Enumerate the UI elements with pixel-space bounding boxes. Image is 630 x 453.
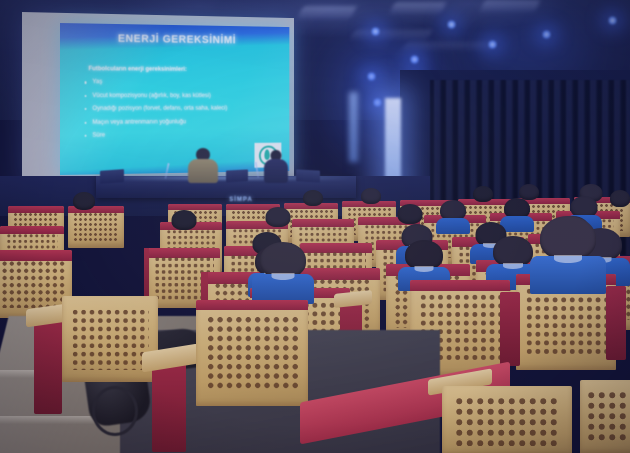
ceiling-panel	[349, 30, 433, 40]
seat-arm-post	[606, 286, 626, 360]
seat-toprail	[196, 300, 308, 310]
attendee-collar	[503, 263, 523, 269]
seat-perforation	[73, 212, 119, 242]
attendee-hair	[610, 190, 630, 207]
attendee	[252, 242, 314, 298]
seat-perforation	[1, 260, 65, 309]
attendee	[262, 207, 294, 233]
attendee-jersey	[436, 218, 470, 234]
attendee	[470, 186, 496, 208]
seat	[196, 300, 308, 406]
seat-perforation	[586, 390, 630, 443]
seat-perforation	[206, 315, 298, 391]
ceiling-spotlight	[607, 16, 618, 25]
ceiling-spotlight	[366, 72, 377, 81]
ceiling-spotlight	[409, 55, 420, 64]
attendee	[168, 210, 200, 236]
attendee-collar	[554, 255, 582, 263]
attendee-hair	[398, 204, 423, 224]
seat-perforation	[525, 287, 607, 356]
ceiling-panel	[297, 6, 357, 19]
attendee	[530, 216, 606, 288]
laptop	[226, 169, 248, 182]
attendee-hair	[172, 210, 197, 230]
seat-perforation	[71, 308, 150, 370]
speaker-right	[262, 150, 290, 182]
ceiling-panel	[401, 42, 497, 51]
seat-perforation	[454, 396, 561, 446]
laptop	[100, 169, 124, 184]
auditorium-photo: ENERJİ GEREKSİNİMİ Futbolcuların enerji …	[0, 0, 630, 453]
attendee	[70, 192, 98, 214]
attendee	[608, 190, 630, 212]
ceiling-spotlight	[487, 40, 498, 49]
attendee-hair	[73, 192, 95, 210]
seat	[580, 380, 630, 453]
speaker-torso	[264, 159, 288, 183]
attendee-hair	[361, 188, 381, 204]
attendee-hair	[266, 207, 291, 227]
speaker-torso	[188, 159, 218, 183]
speaker-left	[186, 148, 220, 182]
attendee	[358, 188, 384, 210]
ceiling-spotlight	[372, 98, 383, 107]
ceiling-panel	[480, 0, 541, 12]
laptop	[296, 169, 320, 182]
seat-arm-post	[34, 318, 62, 414]
attendee-hair	[473, 186, 493, 202]
seat-arm-post	[152, 360, 186, 452]
attendee	[436, 200, 470, 230]
attendee-collar	[415, 266, 434, 272]
attendee-hair	[540, 216, 596, 260]
presentation-slide: ENERJİ GEREKSİNİMİ Futbolcuların enerji …	[60, 23, 289, 175]
backpack-strap	[92, 386, 138, 436]
attendee-hair	[303, 190, 323, 206]
ceiling-spotlight	[370, 27, 381, 36]
seat-arm-post	[500, 292, 520, 366]
attendee-collar	[272, 273, 295, 280]
seat	[442, 386, 572, 453]
attendee	[300, 190, 326, 212]
ceiling-spotlight	[541, 30, 552, 39]
wall-light-secondary	[349, 92, 358, 162]
ceiling-spotlight	[446, 20, 457, 29]
ceiling-panel	[389, 2, 446, 14]
seat-toprail	[410, 280, 510, 291]
slide-glare	[60, 23, 289, 175]
